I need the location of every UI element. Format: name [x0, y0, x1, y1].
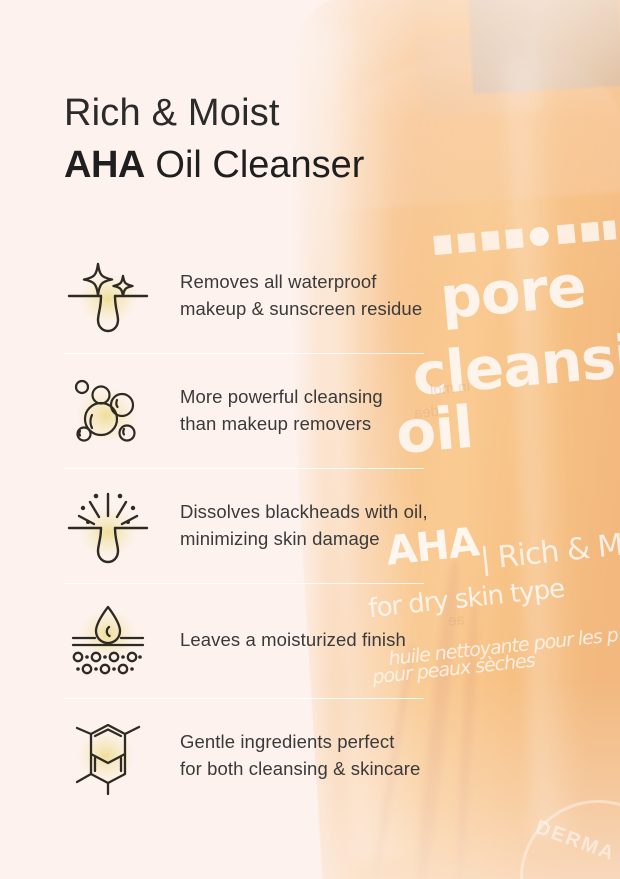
- title-line-2: AHA Oil Cleanser: [64, 144, 534, 187]
- blackhead-burst-pore-icon: [60, 481, 156, 571]
- feature-line-2: for both cleansing & skincare: [180, 756, 420, 782]
- page-title: Rich & Moist AHA Oil Cleanser: [64, 92, 534, 186]
- feature-text: Removes all waterproof makeup & sunscree…: [156, 269, 422, 322]
- moisture-droplet-skin-icon: [60, 596, 156, 686]
- feature-list: Removes all waterproof makeup & sunscree…: [60, 238, 530, 813]
- feature-item: Removes all waterproof makeup & sunscree…: [60, 238, 530, 353]
- feature-line-2: makeup & sunscreen residue: [180, 296, 422, 322]
- feature-line-2: than makeup removers: [180, 411, 383, 437]
- bubbles-icon: [60, 366, 156, 456]
- feature-text: Gentle ingredients perfect for both clea…: [156, 729, 420, 782]
- feature-line-1: Removes all waterproof: [180, 269, 422, 295]
- feature-item: Gentle ingredients perfect for both clea…: [60, 698, 530, 813]
- feature-item: More powerful cleansing than makeup remo…: [60, 353, 530, 468]
- sparkle-pore-icon: [60, 251, 156, 341]
- feature-text: More powerful cleansing than makeup remo…: [156, 384, 383, 437]
- feature-line-1: Gentle ingredients perfect: [180, 729, 420, 755]
- title-aha: AHA: [64, 144, 145, 186]
- product-infographic: pore cleansing oil in mol dea ae AHA | R…: [0, 0, 620, 879]
- bottle-cap: [467, 0, 620, 94]
- derma-badge-text: DERMA: [532, 816, 618, 866]
- feature-line-2: minimizing skin damage: [180, 526, 428, 552]
- feature-item: Leaves a moisturized finish: [60, 583, 530, 698]
- molecule-icon: [60, 711, 156, 801]
- feature-item: Dissolves blackheads with oil, minimizin…: [60, 468, 530, 583]
- feature-line-1: Leaves a moisturized finish: [180, 627, 406, 653]
- title-line-1: Rich & Moist: [64, 92, 534, 135]
- feature-line-1: Dissolves blackheads with oil,: [180, 499, 428, 525]
- title-oil-cleanser: Oil Cleanser: [145, 144, 365, 186]
- feature-text: Leaves a moisturized finish: [156, 627, 406, 653]
- feature-line-1: More powerful cleansing: [180, 384, 383, 410]
- feature-text: Dissolves blackheads with oil, minimizin…: [156, 499, 428, 552]
